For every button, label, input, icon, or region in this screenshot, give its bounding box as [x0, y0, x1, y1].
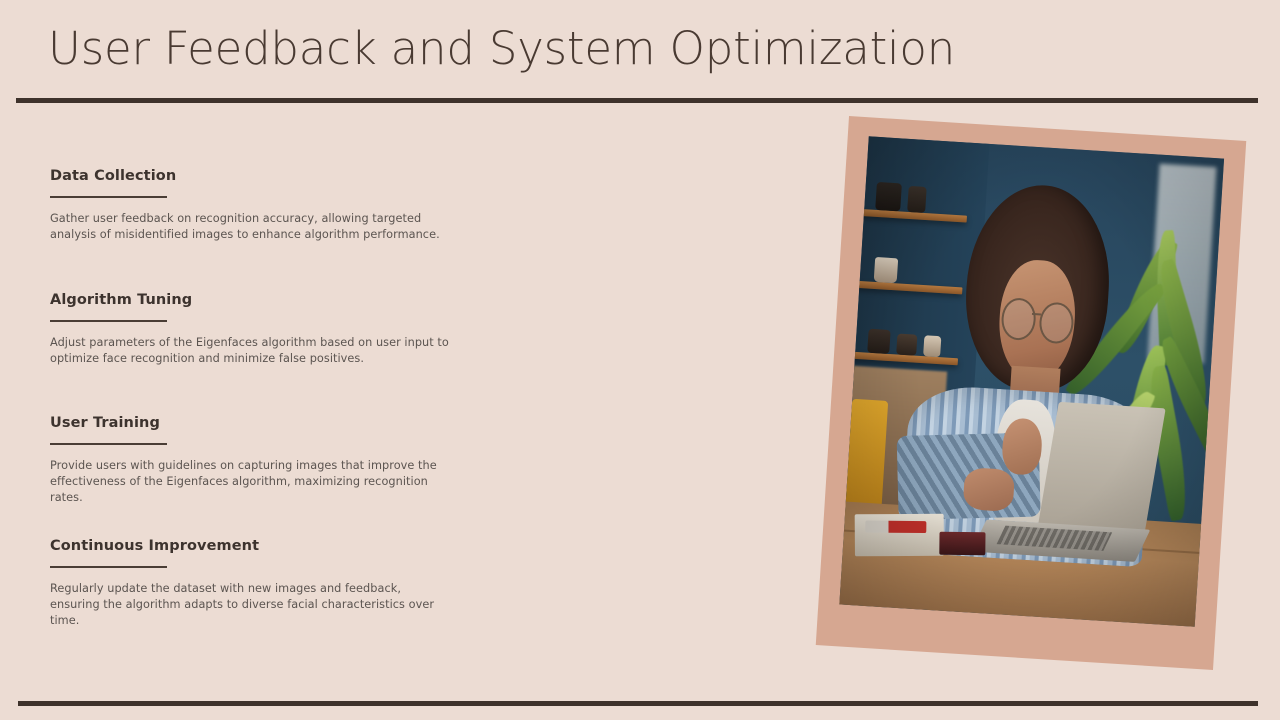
block-heading: User Training — [50, 415, 470, 431]
slide-canvas: User Feedback and System Optimization Da… — [0, 0, 1280, 720]
block-heading: Algorithm Tuning — [50, 292, 470, 308]
block-body: Provide users with guidelines on capturi… — [50, 458, 458, 505]
footer-divider — [18, 701, 1258, 706]
heading-underline — [50, 196, 167, 198]
block-heading: Continuous Improvement — [50, 538, 470, 554]
heading-underline — [50, 443, 167, 445]
photo-frame — [816, 116, 1246, 670]
heading-underline — [50, 320, 167, 322]
content-column: Data Collection Gather user feedback on … — [0, 0, 500, 720]
photo-image — [839, 136, 1224, 626]
block-body: Regularly update the dataset with new im… — [50, 581, 450, 628]
content-block: Continuous Improvement Regularly update … — [50, 538, 470, 628]
content-block: Data Collection Gather user feedback on … — [50, 168, 470, 243]
content-block: User Training Provide users with guideli… — [50, 415, 470, 505]
heading-underline — [50, 566, 167, 568]
block-heading: Data Collection — [50, 168, 470, 184]
block-body: Adjust parameters of the Eigenfaces algo… — [50, 335, 458, 367]
block-body: Gather user feedback on recognition accu… — [50, 211, 450, 243]
photo-vignette — [839, 136, 1224, 626]
content-block: Algorithm Tuning Adjust parameters of th… — [50, 292, 470, 367]
